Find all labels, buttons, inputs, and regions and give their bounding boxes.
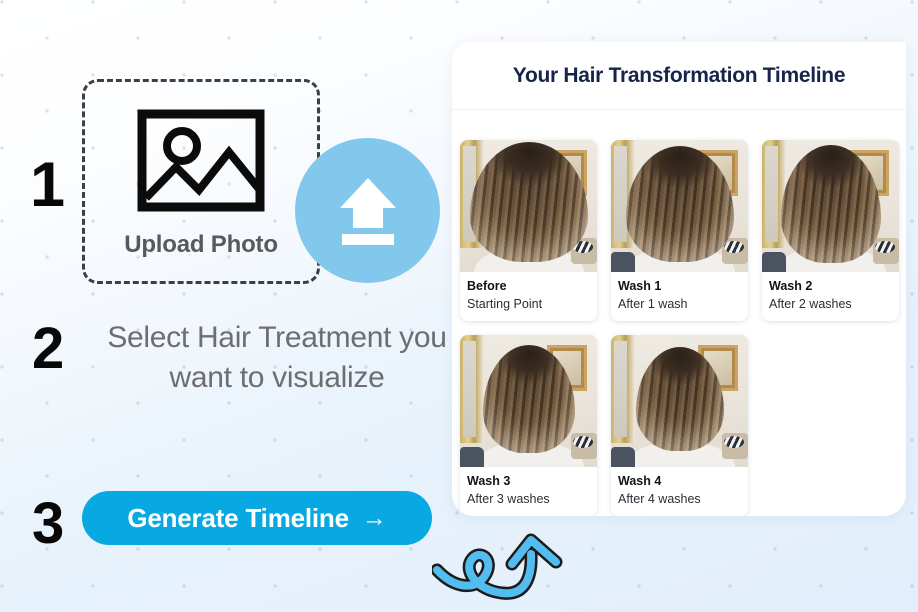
upload-arrow-icon [326,166,410,255]
curly-arrow-icon [432,518,582,608]
card-title: Wash 3 [467,474,590,490]
card-title: Wash 4 [618,474,741,490]
timeline-card[interactable]: Before Starting Point [460,140,597,321]
timeline-header: Your Hair Transformation Timeline [452,42,906,110]
card-title: Wash 2 [769,279,892,295]
step-1-number: 1 [30,154,64,217]
upload-button[interactable] [295,138,440,283]
card-title: Wash 1 [618,279,741,295]
hair-photo [460,140,597,272]
card-subtitle: After 1 wash [618,296,741,312]
step-3-generate: 3 Generate Timeline → [24,480,444,570]
generate-timeline-button[interactable]: Generate Timeline → [82,491,432,545]
card-subtitle: After 4 washes [618,491,741,507]
upload-dropzone[interactable]: Upload Photo [82,79,320,284]
timeline-card[interactable]: Wash 3 After 3 washes [460,335,597,516]
steps-column: 1 Upload Photo [0,0,452,612]
timeline-card[interactable]: Wash 2 After 2 washes [762,140,899,321]
step-2-instruction: Select Hair Treatment you want to visual… [107,318,447,398]
hair-photo [611,140,748,272]
arrow-right-icon: → [362,506,387,531]
card-subtitle: Starting Point [467,296,590,312]
upload-photo-label: Upload Photo [124,231,278,259]
generate-timeline-label: Generate Timeline [127,503,349,534]
card-title: Before [467,279,590,295]
app-root: 1 Upload Photo [0,0,918,612]
timeline-card[interactable]: Wash 4 After 4 washes [611,335,748,516]
timeline-cards-grid: Before Starting Point Wash 1 After 1 was… [452,110,906,516]
timeline-panel: Your Hair Transformation Timeline Before… [452,42,906,516]
hair-photo [460,335,597,467]
image-placeholder-icon [137,109,265,217]
hair-photo [762,140,899,272]
step-2-number: 2 [32,320,63,378]
hair-photo [611,335,748,467]
step-2-select-treatment: 2 Select Hair Treatment you want to visu… [24,318,444,428]
card-subtitle: After 3 washes [467,491,590,507]
card-subtitle: After 2 washes [769,296,892,312]
timeline-card[interactable]: Wash 1 After 1 wash [611,140,748,321]
step-3-number: 3 [32,495,63,553]
step-1-upload: 1 Upload Photo [24,70,444,295]
page-title: Your Hair Transformation Timeline [513,64,845,88]
